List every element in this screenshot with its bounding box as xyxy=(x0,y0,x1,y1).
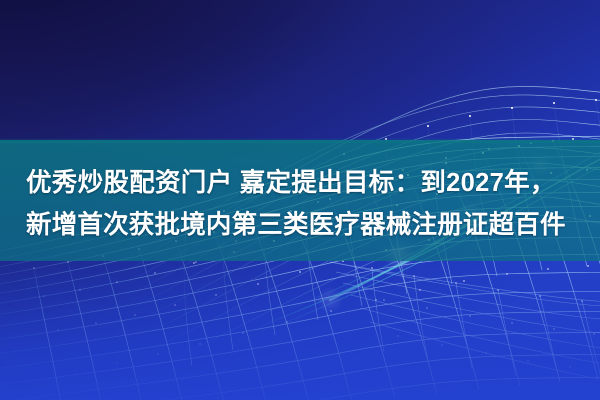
headline-line-1: 优秀炒股配资门户 嘉定提出目标：到2027年， xyxy=(26,162,586,204)
headline-line-2: 新增首次获批境内第三类医疗器械注册证超百件 xyxy=(26,204,586,246)
banner-image: 优秀炒股配资门户 嘉定提出目标：到2027年， 新增首次获批境内第三类医疗器械注… xyxy=(0,0,600,400)
headline-text: 优秀炒股配资门户 嘉定提出目标：到2027年， 新增首次获批境内第三类医疗器械注… xyxy=(26,162,586,246)
